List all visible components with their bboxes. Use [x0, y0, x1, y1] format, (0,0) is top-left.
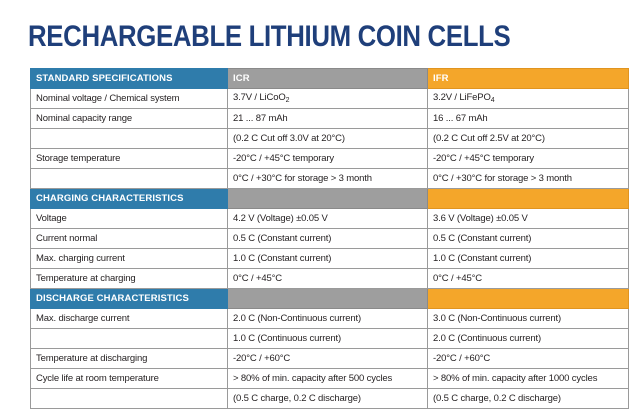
cell-ifr: 0°C / +30°C for storage > 3 month	[428, 169, 629, 189]
cell-ifr: 3.6 V (Voltage) ±0.05 V	[428, 209, 629, 229]
row-label	[31, 169, 228, 189]
table-row: 1.0 C (Continuous current)2.0 C (Continu…	[31, 329, 629, 349]
row-label: Nominal capacity range	[31, 109, 228, 129]
table-row: Max. charging current1.0 C (Constant cur…	[31, 249, 629, 269]
section-heading-icr: ICR	[228, 69, 428, 89]
section-heading-label: CHARGING CHARACTERISTICS	[31, 189, 228, 209]
cell-icr: 1.0 C (Constant current)	[228, 249, 428, 269]
table-row: Cycle life at room temperature> 80% of m…	[31, 369, 629, 389]
row-label	[31, 329, 228, 349]
row-label: Nominal voltage / Chemical system	[31, 89, 228, 109]
cell-ifr: 0°C / +45°C	[428, 269, 629, 289]
cell-icr: 0°C / +30°C for storage > 3 month	[228, 169, 428, 189]
datasheet-page: RECHARGEABLE LITHIUM COIN CELLS STANDARD…	[0, 0, 640, 406]
table-row: 0°C / +30°C for storage > 3 month0°C / +…	[31, 169, 629, 189]
row-label: Current normal	[31, 229, 228, 249]
cell-ifr: > 80% of min. capacity after 1000 cycles	[428, 369, 629, 389]
section-heading-label: STANDARD SPECIFICATIONS	[31, 69, 228, 89]
cell-icr: 1.0 C (Continuous current)	[228, 329, 428, 349]
cell-icr: -20°C / +60°C	[228, 349, 428, 369]
row-label: Voltage	[31, 209, 228, 229]
table-row: Temperature at charging0°C / +45°C0°C / …	[31, 269, 629, 289]
table-row: Nominal voltage / Chemical system3.7V / …	[31, 89, 629, 109]
specifications-table: STANDARD SPECIFICATIONSICRIFRNominal vol…	[30, 68, 629, 409]
cell-icr: 4.2 V (Voltage) ±0.05 V	[228, 209, 428, 229]
row-label: Storage temperature	[31, 149, 228, 169]
cell-ifr: 16 ... 67 mAh	[428, 109, 629, 129]
section-heading-label: DISCHARGE CHARACTERISTICS	[31, 289, 228, 309]
row-label: Cycle life at room temperature	[31, 369, 228, 389]
cell-icr: > 80% of min. capacity after 500 cycles	[228, 369, 428, 389]
cell-icr: (0.2 C Cut off 3.0V at 20°C)	[228, 129, 428, 149]
row-label: Temperature at discharging	[31, 349, 228, 369]
cell-ifr: 0.5 C (Constant current)	[428, 229, 629, 249]
row-label	[31, 129, 228, 149]
section-heading-ifr	[428, 189, 629, 209]
section-heading-icr	[228, 289, 428, 309]
cell-icr: 0.5 C (Constant current)	[228, 229, 428, 249]
row-label: Max. discharge current	[31, 309, 228, 329]
section-header-row: CHARGING CHARACTERISTICS	[31, 189, 629, 209]
table-row: Max. discharge current2.0 C (Non-Continu…	[31, 309, 629, 329]
cell-ifr: 1.0 C (Constant current)	[428, 249, 629, 269]
section-header-row: STANDARD SPECIFICATIONSICRIFR	[31, 69, 629, 89]
cell-ifr: 2.0 C (Continuous current)	[428, 329, 629, 349]
cell-ifr: -20°C / +60°C	[428, 349, 629, 369]
table-row: Storage temperature-20°C / +45°C tempora…	[31, 149, 629, 169]
table-row: Temperature at discharging-20°C / +60°C-…	[31, 349, 629, 369]
table-body: STANDARD SPECIFICATIONSICRIFRNominal vol…	[31, 69, 629, 409]
cell-ifr: 3.2V / LiFePO4	[428, 89, 629, 109]
table-row: (0.2 C Cut off 3.0V at 20°C)(0.2 C Cut o…	[31, 129, 629, 149]
cell-ifr: 3.0 C (Non-Continuous current)	[428, 309, 629, 329]
row-label: Max. charging current	[31, 249, 228, 269]
cell-icr: -20°C / +45°C temporary	[228, 149, 428, 169]
table-row: Current normal0.5 C (Constant current)0.…	[31, 229, 629, 249]
cell-ifr: (0.2 C Cut off 2.5V at 20°C)	[428, 129, 629, 149]
cell-icr: 0°C / +45°C	[228, 269, 428, 289]
page-title: RECHARGEABLE LITHIUM COIN CELLS	[28, 20, 510, 54]
cell-ifr: -20°C / +45°C temporary	[428, 149, 629, 169]
cell-icr: 21 ... 87 mAh	[228, 109, 428, 129]
table-row: Nominal capacity range21 ... 87 mAh16 ..…	[31, 109, 629, 129]
cell-icr: 2.0 C (Non-Continuous current)	[228, 309, 428, 329]
table-row: Voltage4.2 V (Voltage) ±0.05 V3.6 V (Vol…	[31, 209, 629, 229]
row-label: Temperature at charging	[31, 269, 228, 289]
section-heading-icr	[228, 189, 428, 209]
section-header-row: DISCHARGE CHARACTERISTICS	[31, 289, 629, 309]
section-heading-ifr: IFR	[428, 69, 629, 89]
section-heading-ifr	[428, 289, 629, 309]
cell-icr: 3.7V / LiCoO2	[228, 89, 428, 109]
